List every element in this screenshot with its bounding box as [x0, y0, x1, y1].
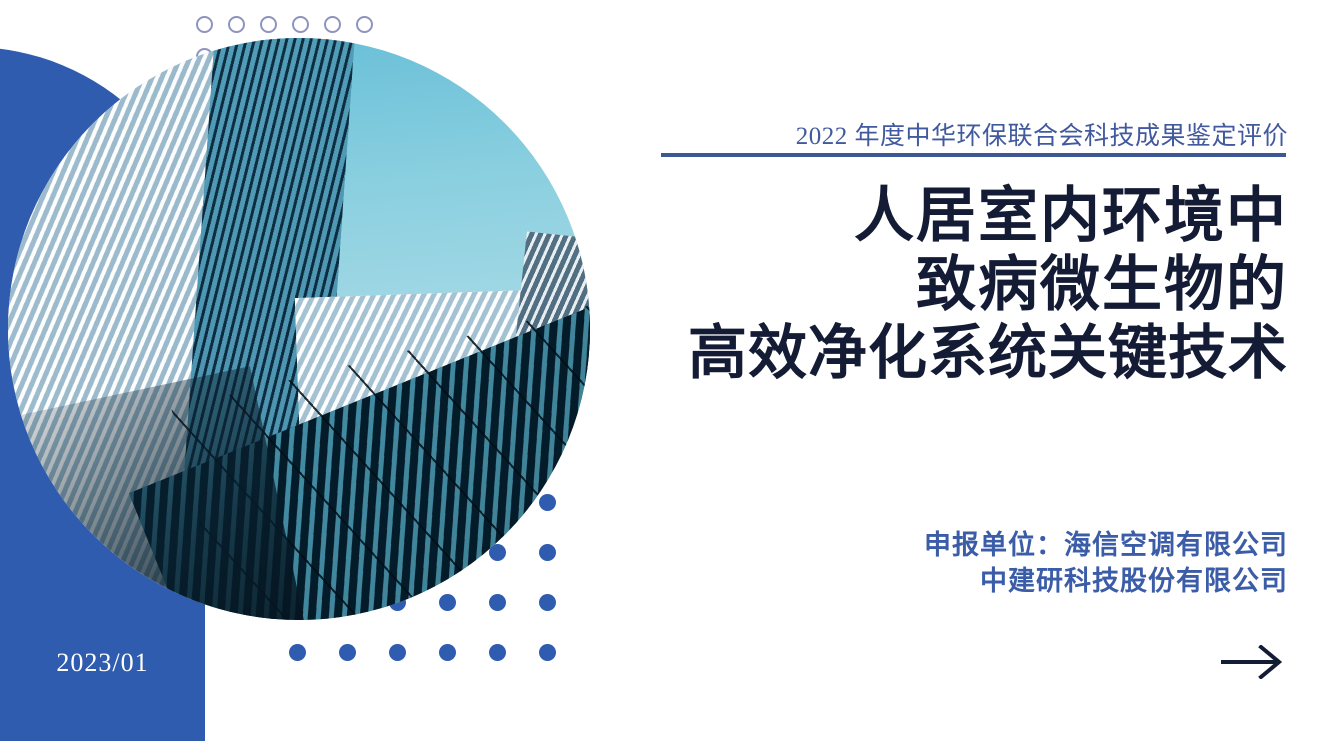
- organization-line-2: 中建研科技股份有限公司: [760, 563, 1288, 599]
- solid-dot: [389, 644, 406, 661]
- solid-dot: [539, 644, 556, 661]
- hollow-dot: [292, 16, 309, 33]
- solid-dot: [339, 644, 356, 661]
- event-subtitle: 2022 年度中华环保联合会科技成果鉴定评价: [660, 116, 1288, 152]
- solid-dot: [289, 644, 306, 661]
- title-line-2: 致病微生物的: [560, 250, 1288, 319]
- slide-date: 2023/01: [0, 648, 205, 678]
- presentation-title-slide: 2022 年度中华环保联合会科技成果鉴定评价 人居室内环境中 致病微生物的 高效…: [0, 0, 1321, 741]
- architecture-photo: [8, 38, 590, 620]
- hollow-dot: [228, 16, 245, 33]
- title-line-3: 高效净化系统关键技术: [560, 319, 1288, 388]
- arrow-right-icon[interactable]: [1219, 645, 1285, 679]
- hollow-dot: [356, 16, 373, 33]
- applicant-organizations: 申报单位：海信空调有限公司 中建研科技股份有限公司: [760, 527, 1288, 599]
- page-title: 人居室内环境中 致病微生物的 高效净化系统关键技术: [560, 181, 1288, 388]
- solid-dot: [489, 644, 506, 661]
- hollow-dot: [324, 16, 341, 33]
- solid-dot: [439, 644, 456, 661]
- hollow-dot: [260, 16, 277, 33]
- hollow-dot: [196, 16, 213, 33]
- organization-line-1: 申报单位：海信空调有限公司: [760, 527, 1288, 563]
- title-line-1: 人居室内环境中: [560, 181, 1288, 250]
- photo-content: [8, 38, 590, 620]
- subtitle-divider-rule: [661, 153, 1286, 157]
